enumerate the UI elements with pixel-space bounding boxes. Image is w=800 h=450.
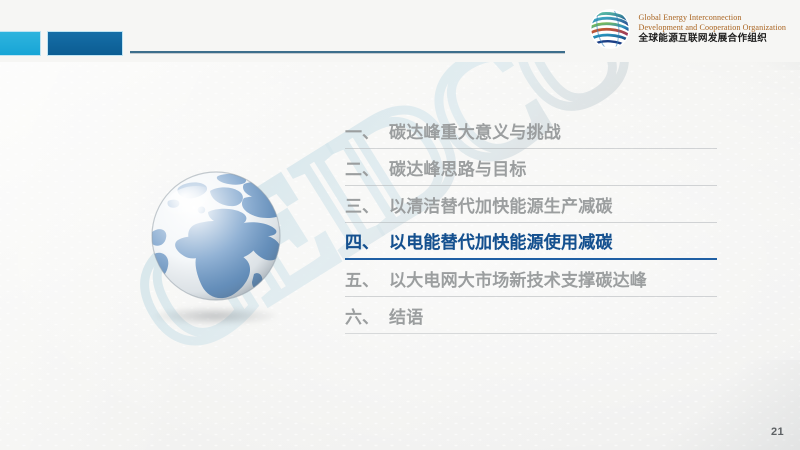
agenda-item-2-label: 碳达峰思路与目标 — [389, 155, 527, 180]
agenda-item-5-number: 五、 — [345, 266, 389, 291]
globe-lines-logo-icon — [588, 7, 632, 51]
agenda-item-6-number: 六、 — [345, 303, 389, 328]
agenda-item-6-label: 结语 — [389, 303, 423, 328]
globe-illustration — [140, 168, 290, 338]
slide-header: Global Energy Interconnection Developmen… — [0, 0, 800, 62]
agenda-item-1[interactable]: 一、 碳达峰重大意义与挑战 — [345, 112, 717, 149]
org-logo: Global Energy Interconnection Developmen… — [588, 7, 786, 51]
header-accent-square-cyan — [0, 31, 41, 56]
agenda-item-6[interactable]: 六、 结语 — [345, 297, 717, 334]
agenda-item-5-label: 以大电网大市场新技术支撑碳达峰 — [389, 266, 647, 291]
globe-drop-shadow — [154, 307, 276, 325]
header-accent-square-blue — [47, 31, 123, 56]
agenda-list: 一、 碳达峰重大意义与挑战 二、 碳达峰思路与目标 三、 以清洁替代加快能源生产… — [345, 112, 717, 334]
agenda-item-3-label: 以清洁替代加快能源生产减碳 — [389, 192, 613, 217]
slide-root: GEIDCO — [0, 0, 800, 450]
agenda-item-3[interactable]: 三、 以清洁替代加快能源生产减碳 — [345, 186, 717, 223]
agenda-item-2[interactable]: 二、 碳达峰思路与目标 — [345, 149, 717, 186]
agenda-item-2-number: 二、 — [345, 155, 389, 180]
agenda-item-5[interactable]: 五、 以大电网大市场新技术支撑碳达峰 — [345, 260, 717, 297]
agenda-item-4-label: 以电能替代加快能源使用减碳 — [389, 228, 613, 253]
agenda-item-4-number: 四、 — [345, 228, 389, 253]
globe-icon — [148, 168, 284, 304]
page-number: 21 — [771, 426, 784, 438]
agenda-item-1-number: 一、 — [345, 118, 389, 143]
agenda-item-1-label: 碳达峰重大意义与挑战 — [389, 118, 561, 143]
header-divider-shadow — [130, 53, 565, 54]
org-name-en-line2: Development and Cooperation Organization — [639, 23, 786, 33]
org-name-en-line1: Global Energy Interconnection — [639, 13, 786, 23]
agenda-item-4-active[interactable]: 四、 以电能替代加快能源使用减碳 — [345, 223, 717, 260]
agenda-item-3-number: 三、 — [345, 192, 389, 217]
org-logo-text: Global Energy Interconnection Developmen… — [639, 13, 786, 44]
org-name-cn: 全球能源互联网发展合作组织 — [639, 33, 786, 44]
